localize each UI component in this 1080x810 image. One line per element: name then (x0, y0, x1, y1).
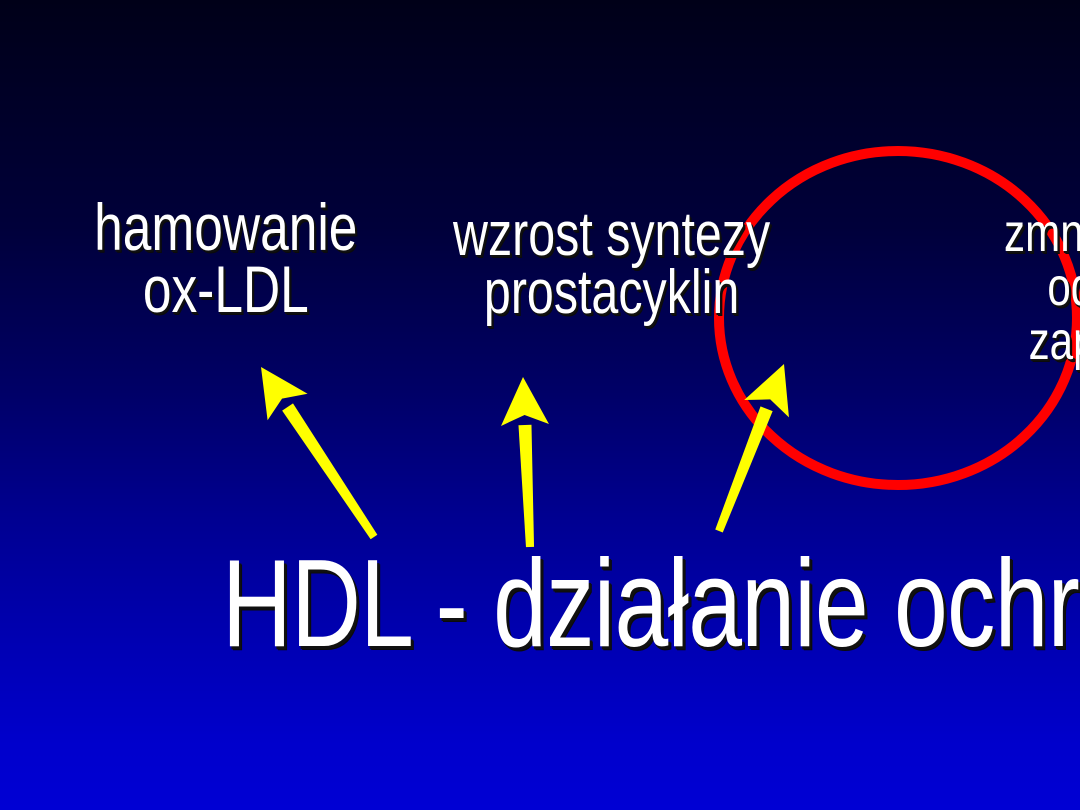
arrow-to-hamowanie-icon (261, 367, 377, 539)
slide-canvas: hamowanie ox-LDL wzrost syntezy prostacy… (0, 0, 1080, 810)
page-title: HDL - działanie ochronne (222, 546, 924, 663)
arrow-to-zmniejszanie-icon (715, 364, 789, 532)
arrow-to-wzrost-icon (501, 377, 549, 547)
arrow-layer (0, 0, 1080, 810)
